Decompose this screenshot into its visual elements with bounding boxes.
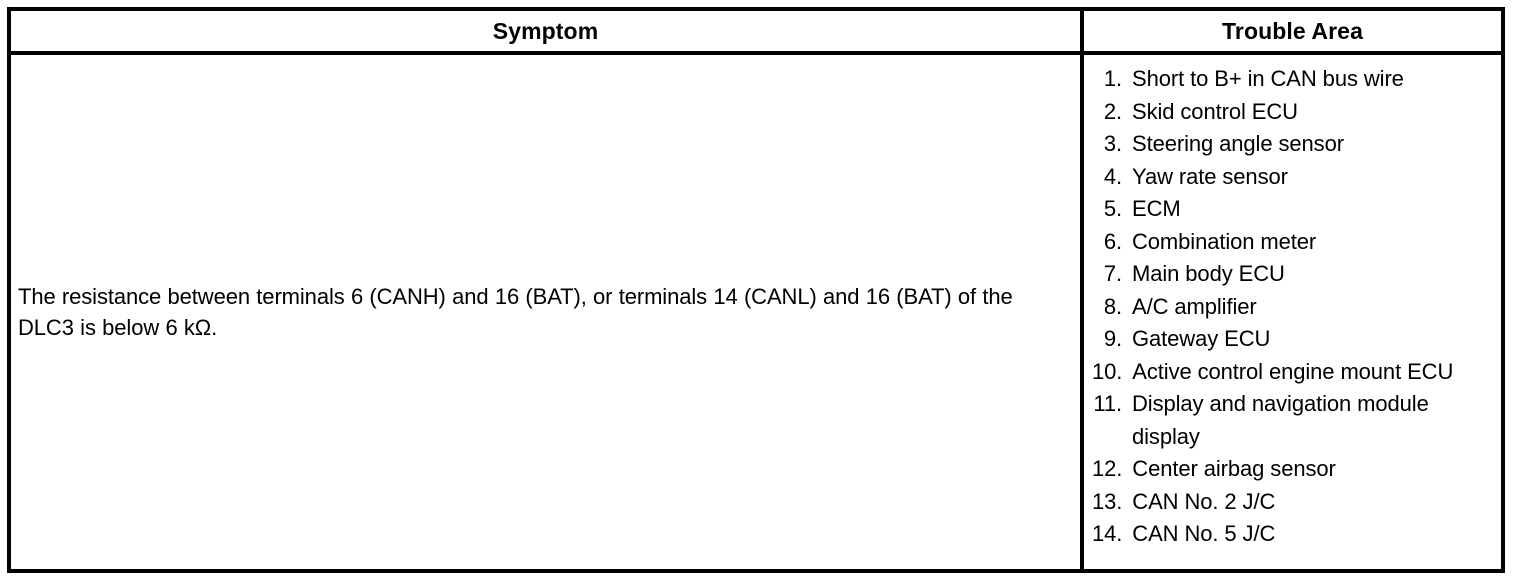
trouble-area-item: 11.Display and navigation module display xyxy=(1092,388,1495,453)
trouble-area-item: 14.CAN No. 5 J/C xyxy=(1092,518,1495,551)
trouble-area-item-number: 9. xyxy=(1092,323,1132,356)
trouble-area-item: 1.Short to B+ in CAN bus wire xyxy=(1092,63,1495,96)
trouble-area-item-label: Yaw rate sensor xyxy=(1132,161,1495,194)
trouble-area-cell: 1.Short to B+ in CAN bus wire2.Skid cont… xyxy=(1084,55,1501,569)
trouble-area-item-label: Center airbag sensor xyxy=(1132,453,1495,486)
trouble-area-item-label: Steering angle sensor xyxy=(1132,128,1495,161)
trouble-area-item-label: A/C amplifier xyxy=(1132,291,1495,324)
trouble-area-item-number: 12. xyxy=(1092,453,1132,486)
trouble-area-item-label: Display and navigation module display xyxy=(1132,388,1495,453)
trouble-area-item-number: 7. xyxy=(1092,258,1132,291)
trouble-area-item-label: ECM xyxy=(1132,193,1495,226)
trouble-area-item: 4.Yaw rate sensor xyxy=(1092,161,1495,194)
trouble-area-item: 10.Active control engine mount ECU xyxy=(1092,356,1495,389)
column-header-trouble-area: Trouble Area xyxy=(1084,11,1501,51)
table-body-row: The resistance between terminals 6 (CANH… xyxy=(11,55,1501,569)
trouble-area-item-label: Active control engine mount ECU xyxy=(1132,356,1495,389)
trouble-area-item: 8.A/C amplifier xyxy=(1092,291,1495,324)
trouble-area-item-label: CAN No. 2 J/C xyxy=(1132,486,1495,519)
trouble-area-item-label: Combination meter xyxy=(1132,226,1495,259)
column-header-symptom: Symptom xyxy=(11,11,1084,51)
trouble-area-item-label: Gateway ECU xyxy=(1132,323,1495,356)
trouble-area-item-number: 10. xyxy=(1092,356,1132,389)
trouble-area-item-label: Short to B+ in CAN bus wire xyxy=(1132,63,1495,96)
trouble-area-item-number: 6. xyxy=(1092,226,1132,259)
troubleshooting-table: Symptom Trouble Area The resistance betw… xyxy=(7,7,1505,573)
trouble-area-item: 12.Center airbag sensor xyxy=(1092,453,1495,486)
trouble-area-item-label: Main body ECU xyxy=(1132,258,1495,291)
trouble-area-list: 1.Short to B+ in CAN bus wire2.Skid cont… xyxy=(1092,63,1495,551)
trouble-area-item-number: 13. xyxy=(1092,486,1132,519)
trouble-area-item: 6.Combination meter xyxy=(1092,226,1495,259)
symptom-description: The resistance between terminals 6 (CANH… xyxy=(18,281,1074,343)
trouble-area-item: 9.Gateway ECU xyxy=(1092,323,1495,356)
trouble-area-item: 5.ECM xyxy=(1092,193,1495,226)
trouble-area-item-number: 1. xyxy=(1092,63,1132,96)
trouble-area-item-number: 2. xyxy=(1092,96,1132,129)
symptom-cell: The resistance between terminals 6 (CANH… xyxy=(11,55,1084,569)
table-header-row: Symptom Trouble Area xyxy=(11,11,1501,55)
trouble-area-item-number: 8. xyxy=(1092,291,1132,324)
trouble-area-item: 13.CAN No. 2 J/C xyxy=(1092,486,1495,519)
trouble-area-item-number: 5. xyxy=(1092,193,1132,226)
trouble-area-item-number: 11. xyxy=(1092,388,1132,421)
trouble-area-item: 7.Main body ECU xyxy=(1092,258,1495,291)
trouble-area-item-number: 14. xyxy=(1092,518,1132,551)
trouble-area-item-label: Skid control ECU xyxy=(1132,96,1495,129)
trouble-area-item: 3.Steering angle sensor xyxy=(1092,128,1495,161)
trouble-area-item: 2.Skid control ECU xyxy=(1092,96,1495,129)
trouble-area-item-label: CAN No. 5 J/C xyxy=(1132,518,1495,551)
trouble-area-item-number: 4. xyxy=(1092,161,1132,194)
trouble-area-item-number: 3. xyxy=(1092,128,1132,161)
page-root: Symptom Trouble Area The resistance betw… xyxy=(0,0,1520,584)
